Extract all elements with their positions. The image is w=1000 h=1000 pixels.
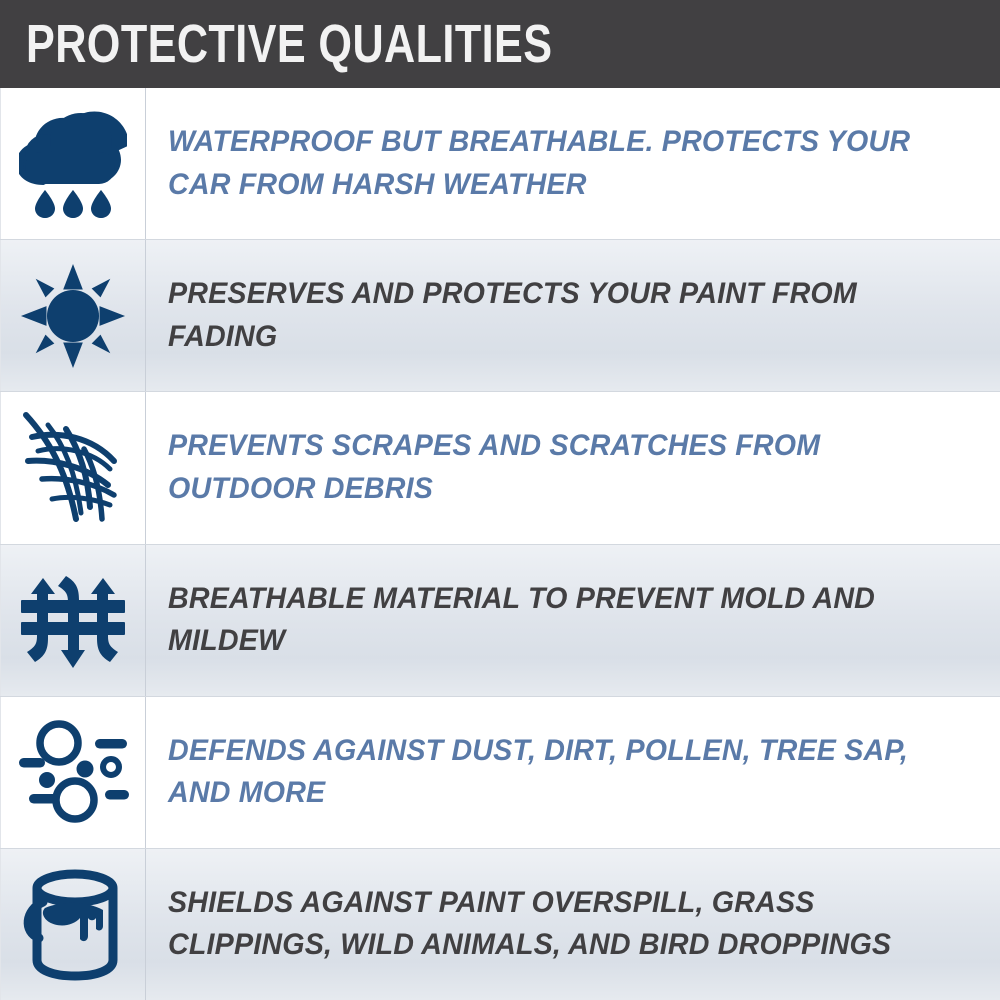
list-item: SHIELDS AGAINST PAINT OVERSPILL, GRASS C… <box>0 849 1000 1000</box>
list-item: PRESERVES AND PROTECTS YOUR PAINT FROM F… <box>0 240 1000 392</box>
icon-cell <box>0 392 146 543</box>
dust-particles-icon <box>17 718 129 826</box>
icon-cell <box>0 240 146 391</box>
rain-cloud-icon <box>19 108 127 220</box>
text-cell: PRESERVES AND PROTECTS YOUR PAINT FROM F… <box>146 240 1000 391</box>
page-title: PROTECTIVE QUALITIES <box>26 17 552 71</box>
list-item-label: SHIELDS AGAINST PAINT OVERSPILL, GRASS C… <box>168 882 946 967</box>
text-cell: PREVENTS SCRAPES AND SCRATCHES FROM OUTD… <box>146 392 1000 543</box>
breathable-airflow-arrows-icon <box>19 564 127 676</box>
icon-cell <box>0 849 146 1000</box>
list-item-label: PRESERVES AND PROTECTS YOUR PAINT FROM F… <box>168 273 946 358</box>
icon-cell <box>0 545 146 696</box>
qualities-list: WATERPROOF BUT BREATHABLE. PROTECTS YOUR… <box>0 88 1000 1000</box>
protective-qualities-infographic: PROTECTIVE QUALITIES <box>0 0 1000 1000</box>
scratch-mesh-icon <box>18 407 128 529</box>
list-item-label: WATERPROOF BUT BREATHABLE. PROTECTS YOUR… <box>168 121 946 206</box>
list-item-label: PREVENTS SCRAPES AND SCRATCHES FROM OUTD… <box>168 425 946 510</box>
text-cell: WATERPROOF BUT BREATHABLE. PROTECTS YOUR… <box>146 88 1000 239</box>
list-item-label: BREATHABLE MATERIAL TO PREVENT MOLD AND … <box>168 578 946 663</box>
paint-can-icon <box>17 866 129 982</box>
sun-icon <box>19 261 127 371</box>
list-item: BREATHABLE MATERIAL TO PREVENT MOLD AND … <box>0 545 1000 697</box>
icon-cell <box>0 88 146 239</box>
list-item: DEFENDS AGAINST DUST, DIRT, POLLEN, TREE… <box>0 697 1000 849</box>
list-item: WATERPROOF BUT BREATHABLE. PROTECTS YOUR… <box>0 88 1000 240</box>
header-bar: PROTECTIVE QUALITIES <box>0 0 1000 88</box>
list-item: PREVENTS SCRAPES AND SCRATCHES FROM OUTD… <box>0 392 1000 544</box>
list-item-label: DEFENDS AGAINST DUST, DIRT, POLLEN, TREE… <box>168 730 946 815</box>
text-cell: SHIELDS AGAINST PAINT OVERSPILL, GRASS C… <box>146 849 1000 1000</box>
text-cell: DEFENDS AGAINST DUST, DIRT, POLLEN, TREE… <box>146 697 1000 848</box>
text-cell: BREATHABLE MATERIAL TO PREVENT MOLD AND … <box>146 545 1000 696</box>
icon-cell <box>0 697 146 848</box>
